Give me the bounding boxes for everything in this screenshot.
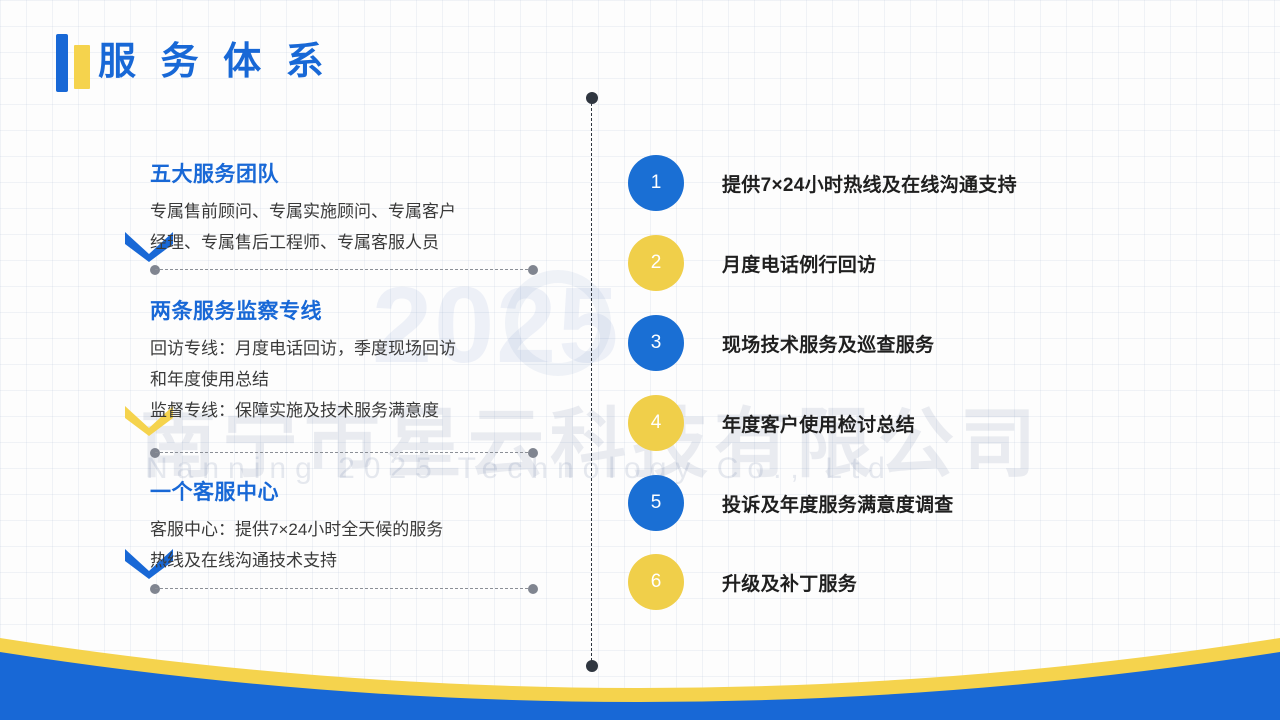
list-item-label: 月度电话例行回访 [722, 235, 876, 291]
left-block: 五大服务团队 专属售前顾问、专属实施顾问、专属客户 经理、专属售后工程师、专属客… [150, 160, 550, 258]
section-divider [150, 584, 538, 594]
left-block-line: 热线及在线沟通技术支持 [150, 545, 510, 576]
list-item-number-badge: 2 [628, 235, 684, 291]
list-item-number-badge: 3 [628, 315, 684, 371]
slide-root: 2025 南宁市星云科技有限公司 Nanning 2025 Technology… [0, 0, 1280, 720]
list-item[interactable]: 1 提供7×24小时热线及在线沟通支持 [628, 155, 1268, 211]
left-block-line: 回访专线：月度电话回访，季度现场回访 [150, 333, 510, 364]
divider-dot-left [150, 265, 160, 275]
list-item-label: 升级及补丁服务 [722, 554, 857, 610]
section-divider [150, 265, 538, 275]
list-item-number-badge: 1 [628, 155, 684, 211]
divider-line [155, 588, 533, 589]
left-block: 两条服务监察专线 回访专线：月度电话回访，季度现场回访 和年度使用总结 监督专线… [150, 297, 550, 426]
list-item[interactable]: 2 月度电话例行回访 [628, 235, 1268, 291]
left-column: 五大服务团队 专属售前顾问、专属实施顾问、专属客户 经理、专属售后工程师、专属客… [0, 0, 560, 720]
divider-dot-right [528, 448, 538, 458]
section-divider [150, 448, 538, 458]
left-block: 一个客服中心 客服中心：提供7×24小时全天候的服务 热线及在线沟通技术支持 [150, 478, 550, 576]
divider-dot-right [528, 265, 538, 275]
left-block-line: 和年度使用总结 [150, 364, 510, 395]
left-block-line: 客服中心：提供7×24小时全天候的服务 [150, 514, 510, 545]
list-item-number-badge: 5 [628, 475, 684, 531]
vertical-divider [586, 92, 598, 672]
left-block-line: 专属售前顾问、专属实施顾问、专属客户 [150, 196, 510, 227]
list-item-label: 投诉及年度服务满意度调查 [722, 475, 954, 531]
list-item[interactable]: 3 现场技术服务及巡查服务 [628, 315, 1268, 371]
divider-dot-left [150, 584, 160, 594]
left-block-body: 专属售前顾问、专属实施顾问、专属客户 经理、专属售后工程师、专属客服人员 [150, 196, 510, 258]
divider-line [155, 269, 533, 270]
list-item-label: 年度客户使用检讨总结 [722, 395, 915, 451]
list-item-label: 提供7×24小时热线及在线沟通支持 [722, 155, 1017, 211]
divider-line [155, 452, 533, 453]
left-block-body: 客服中心：提供7×24小时全天候的服务 热线及在线沟通技术支持 [150, 514, 510, 576]
list-item[interactable]: 4 年度客户使用检讨总结 [628, 395, 1268, 451]
left-block-heading: 两条服务监察专线 [150, 297, 550, 327]
right-column: 1 提供7×24小时热线及在线沟通支持 2 月度电话例行回访 3 现场技术服务及… [620, 0, 1280, 720]
left-block-line: 经理、专属售后工程师、专属客服人员 [150, 227, 510, 258]
list-item-number-badge: 4 [628, 395, 684, 451]
divider-dot-right [528, 584, 538, 594]
left-block-heading: 一个客服中心 [150, 478, 550, 508]
list-item-number-badge: 6 [628, 554, 684, 610]
vertical-divider-dot-top [586, 92, 598, 104]
vertical-divider-line [591, 98, 592, 666]
list-item[interactable]: 5 投诉及年度服务满意度调查 [628, 475, 1268, 531]
left-block-heading: 五大服务团队 [150, 160, 550, 190]
list-item-label: 现场技术服务及巡查服务 [722, 315, 934, 371]
list-item[interactable]: 6 升级及补丁服务 [628, 554, 1268, 610]
left-block-line: 监督专线：保障实施及技术服务满意度 [150, 395, 510, 426]
divider-dot-left [150, 448, 160, 458]
vertical-divider-dot-bottom [586, 660, 598, 672]
left-block-body: 回访专线：月度电话回访，季度现场回访 和年度使用总结 监督专线：保障实施及技术服… [150, 333, 510, 426]
